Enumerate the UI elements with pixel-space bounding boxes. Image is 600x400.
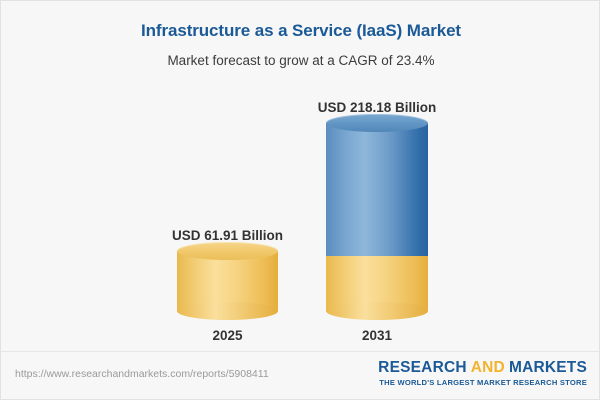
- footer: https://www.researchandmarkets.com/repor…: [1, 351, 600, 399]
- logo-word-and: AND: [471, 359, 505, 376]
- report-url[interactable]: https://www.researchandmarkets.com/repor…: [15, 368, 269, 380]
- bar-segment-base-2031: [326, 256, 428, 311]
- logo-word-markets: MARKETS: [509, 359, 587, 376]
- bar-value-label-2031: USD 218.18 Billion: [286, 100, 468, 115]
- category-label-2031: 2031: [286, 328, 468, 343]
- plot-area: USD 61.91 Billion 2025 USD 218.18 Billio…: [1, 1, 600, 353]
- brand-logo[interactable]: RESEARCHANDMARKETS THE WORLD'S LARGEST M…: [378, 360, 587, 387]
- logo-tagline: THE WORLD'S LARGEST MARKET RESEARCH STOR…: [378, 378, 587, 387]
- bar-segment-base-2025: [177, 251, 278, 311]
- bar-segment-growth-2031: [326, 123, 428, 256]
- bar-value-label-2025: USD 61.91 Billion: [137, 228, 318, 243]
- logo-word-research: RESEARCH: [378, 359, 467, 376]
- cylinder-2031[interactable]: [326, 123, 428, 311]
- segment-top-ellipse: [177, 242, 278, 260]
- segment-top-ellipse: [326, 114, 428, 132]
- segment-body: [326, 123, 428, 256]
- chart-card: Infrastructure as a Service (IaaS) Marke…: [0, 0, 600, 400]
- cylinder-2025[interactable]: [177, 251, 278, 311]
- segment-bottom-ellipse: [326, 302, 428, 320]
- logo-wordmark: RESEARCHANDMARKETS: [378, 360, 587, 376]
- segment-bottom-ellipse: [177, 302, 278, 320]
